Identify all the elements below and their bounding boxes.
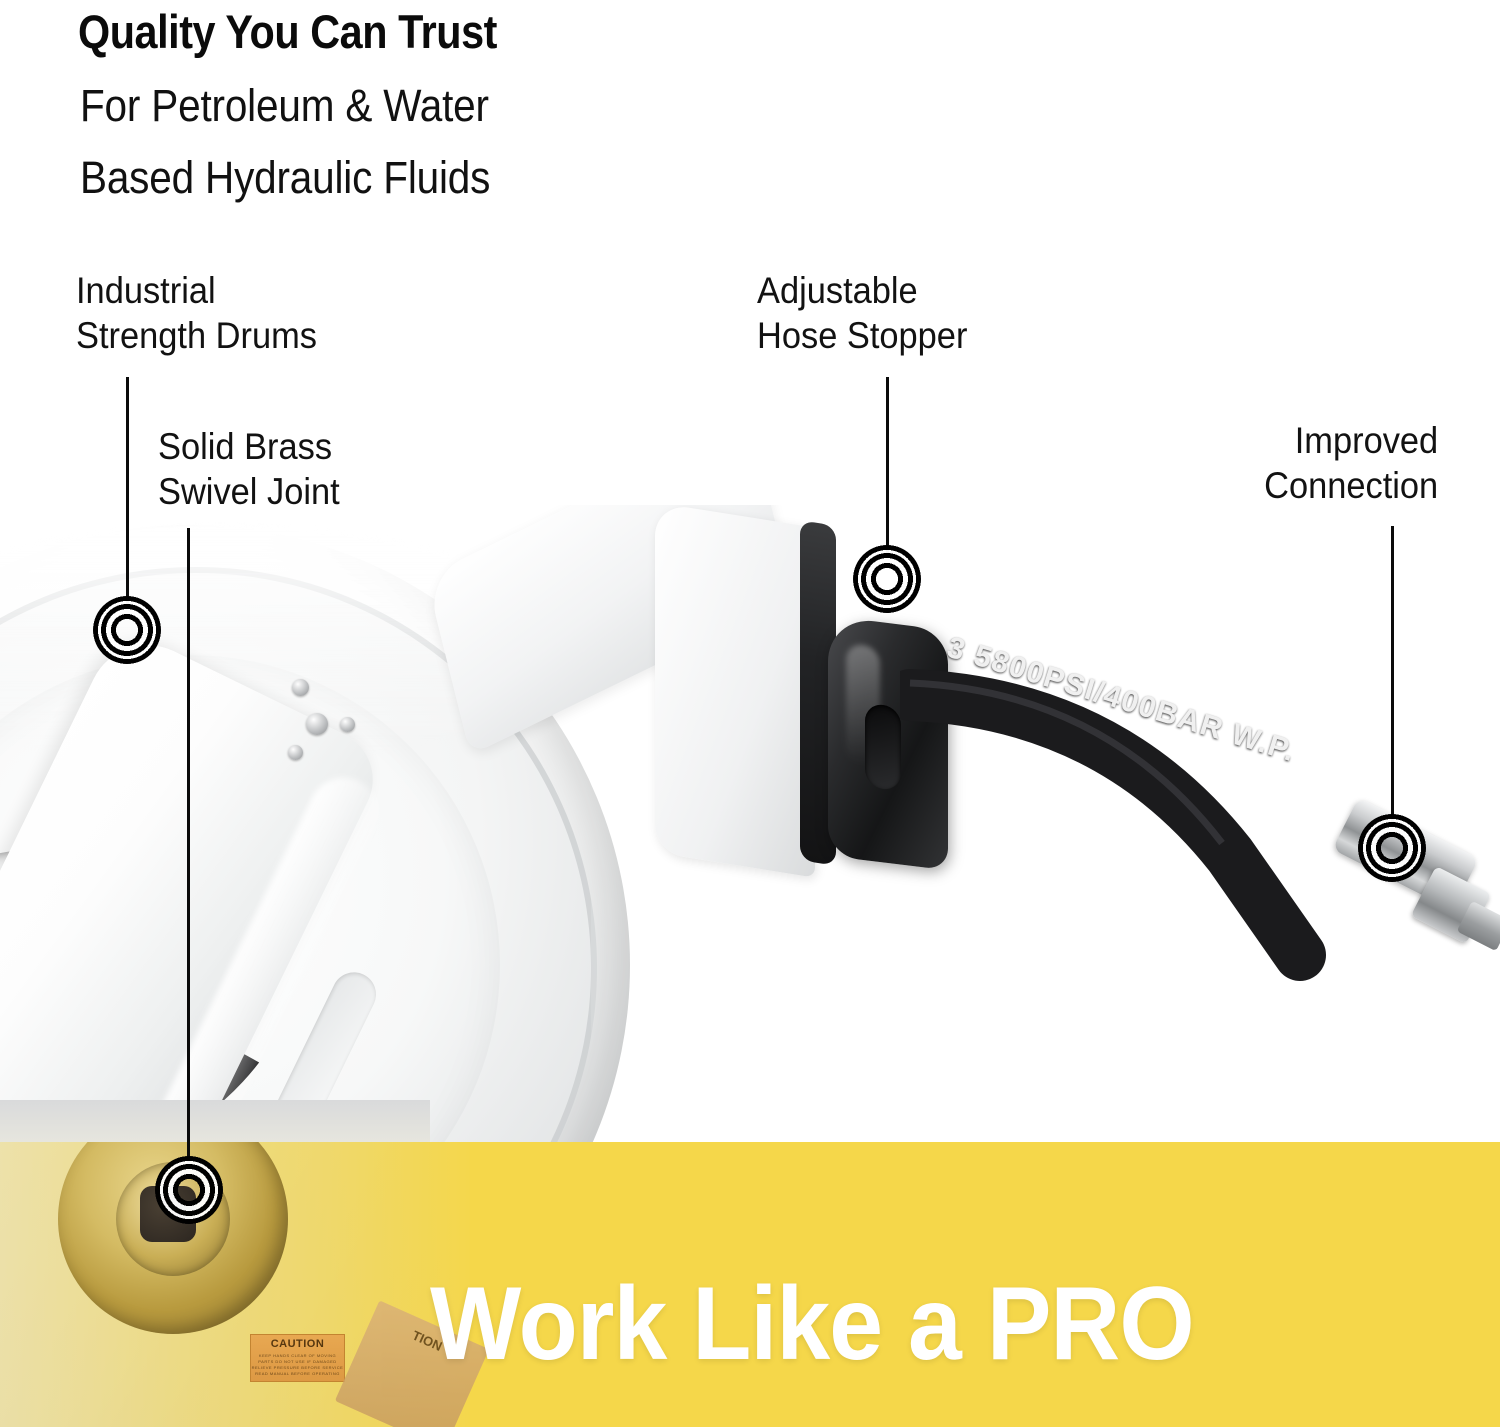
callout-line-1: Adjustable <box>757 268 967 313</box>
banner-title: Work Like a PRO <box>430 1265 1194 1384</box>
subtitle-line-1: For Petroleum & Water <box>80 80 489 132</box>
callout-line-2: Strength Drums <box>76 313 317 358</box>
callout-adjustable-hose-stopper: Adjustable Hose Stopper <box>757 268 967 358</box>
product-infographic: Quality You Can Trust For Petroleum & Wa… <box>0 0 1500 1427</box>
rivet <box>292 679 309 696</box>
rivet <box>340 717 355 732</box>
leader-line-adjustable-hose-stopper <box>886 377 889 555</box>
rivet <box>306 713 328 735</box>
leader-line-industrial-strength-drums <box>126 377 129 605</box>
callout-line-2: Connection <box>1264 463 1438 508</box>
marker-solid-brass-swivel-joint[interactable] <box>155 1156 223 1224</box>
marker-industrial-strength-drums[interactable] <box>93 596 161 664</box>
callout-line-1: Solid Brass <box>158 424 340 469</box>
leader-line-improved-connection <box>1391 526 1394 822</box>
rivet <box>288 745 303 760</box>
leader-line-solid-brass-swivel-joint <box>187 528 190 1166</box>
photo-lower-strip <box>0 1100 430 1144</box>
page-title: Quality You Can Trust <box>78 4 497 59</box>
subtitle-line-2: Based Hydraulic Fluids <box>80 152 490 204</box>
callout-industrial-strength-drums: Industrial Strength Drums <box>76 268 317 358</box>
callout-line-1: Industrial <box>76 268 317 313</box>
bracket-head <box>655 505 815 878</box>
callout-line-2: Swivel Joint <box>158 469 340 514</box>
caution-label-title: CAUTION <box>271 1338 325 1350</box>
caution-label: CAUTION KEEP HANDS CLEAR OF MOVING PARTS… <box>250 1334 345 1382</box>
hose-stopper-slot <box>865 703 901 791</box>
marker-improved-connection[interactable] <box>1358 814 1426 882</box>
callout-solid-brass-swivel-joint: Solid Brass Swivel Joint <box>158 424 340 514</box>
marker-adjustable-hose-stopper[interactable] <box>853 545 921 613</box>
caution-label-body: KEEP HANDS CLEAR OF MOVING PARTS DO NOT … <box>251 1353 344 1377</box>
callout-line-1: Improved <box>1264 418 1438 463</box>
callout-line-2: Hose Stopper <box>757 313 967 358</box>
callout-improved-connection: Improved Connection <box>1264 418 1438 508</box>
